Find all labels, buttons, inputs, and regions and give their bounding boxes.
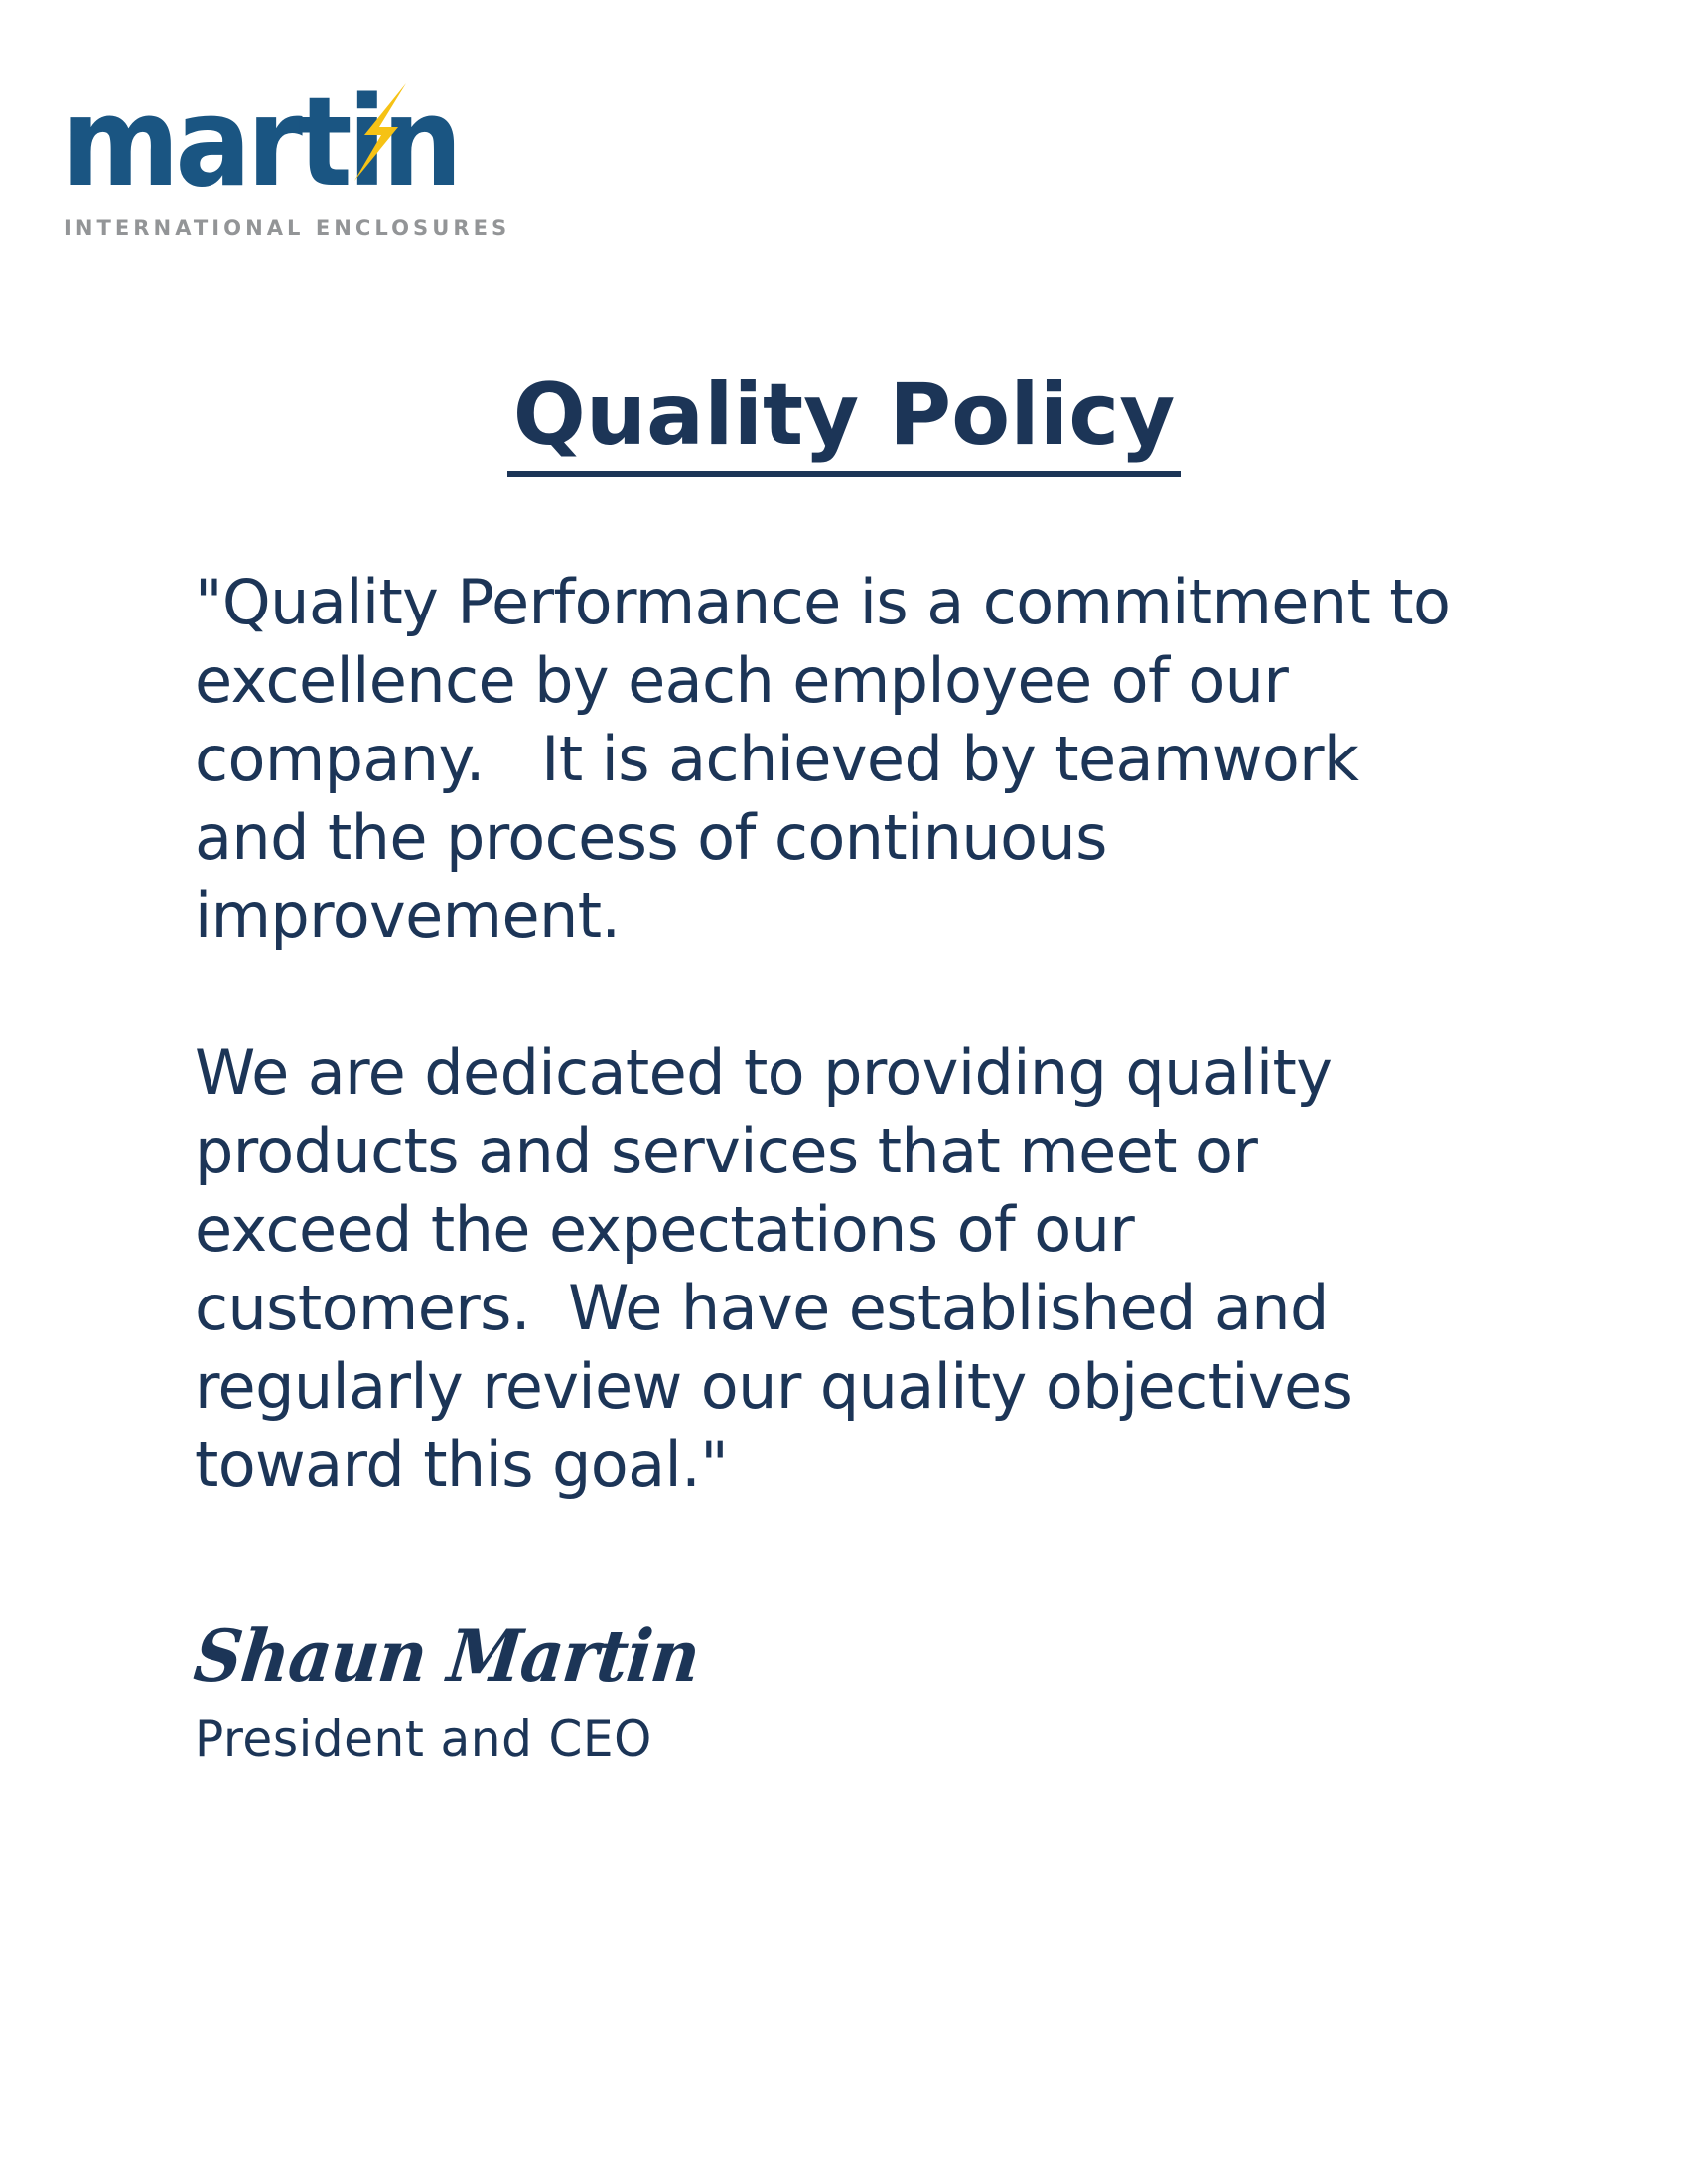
company-logo: martin INTERNATIONAL ENCLOSURES — [62, 77, 489, 211]
policy-paragraph-1: "Quality Performance is a commitment to … — [195, 563, 1476, 955]
signature-name: Shaun Martin — [191, 1614, 704, 1698]
logo-tagline: INTERNATIONAL ENCLOSURES — [64, 216, 510, 241]
logo-wordmark: martin — [62, 77, 458, 208]
page-title: Quality Policy — [0, 363, 1688, 477]
signature-block: Shaun Martin President and CEO — [195, 1614, 890, 1769]
policy-body: "Quality Performance is a commitment to … — [195, 563, 1476, 1504]
page-title-text: Quality Policy — [507, 363, 1182, 477]
signature-title: President and CEO — [195, 1709, 869, 1769]
logo-mark: martin — [62, 77, 449, 211]
policy-paragraph-2: We are dedicated to providing quality pr… — [195, 1033, 1476, 1504]
document-page: martin INTERNATIONAL ENCLOSURES Quality … — [0, 0, 1688, 2184]
